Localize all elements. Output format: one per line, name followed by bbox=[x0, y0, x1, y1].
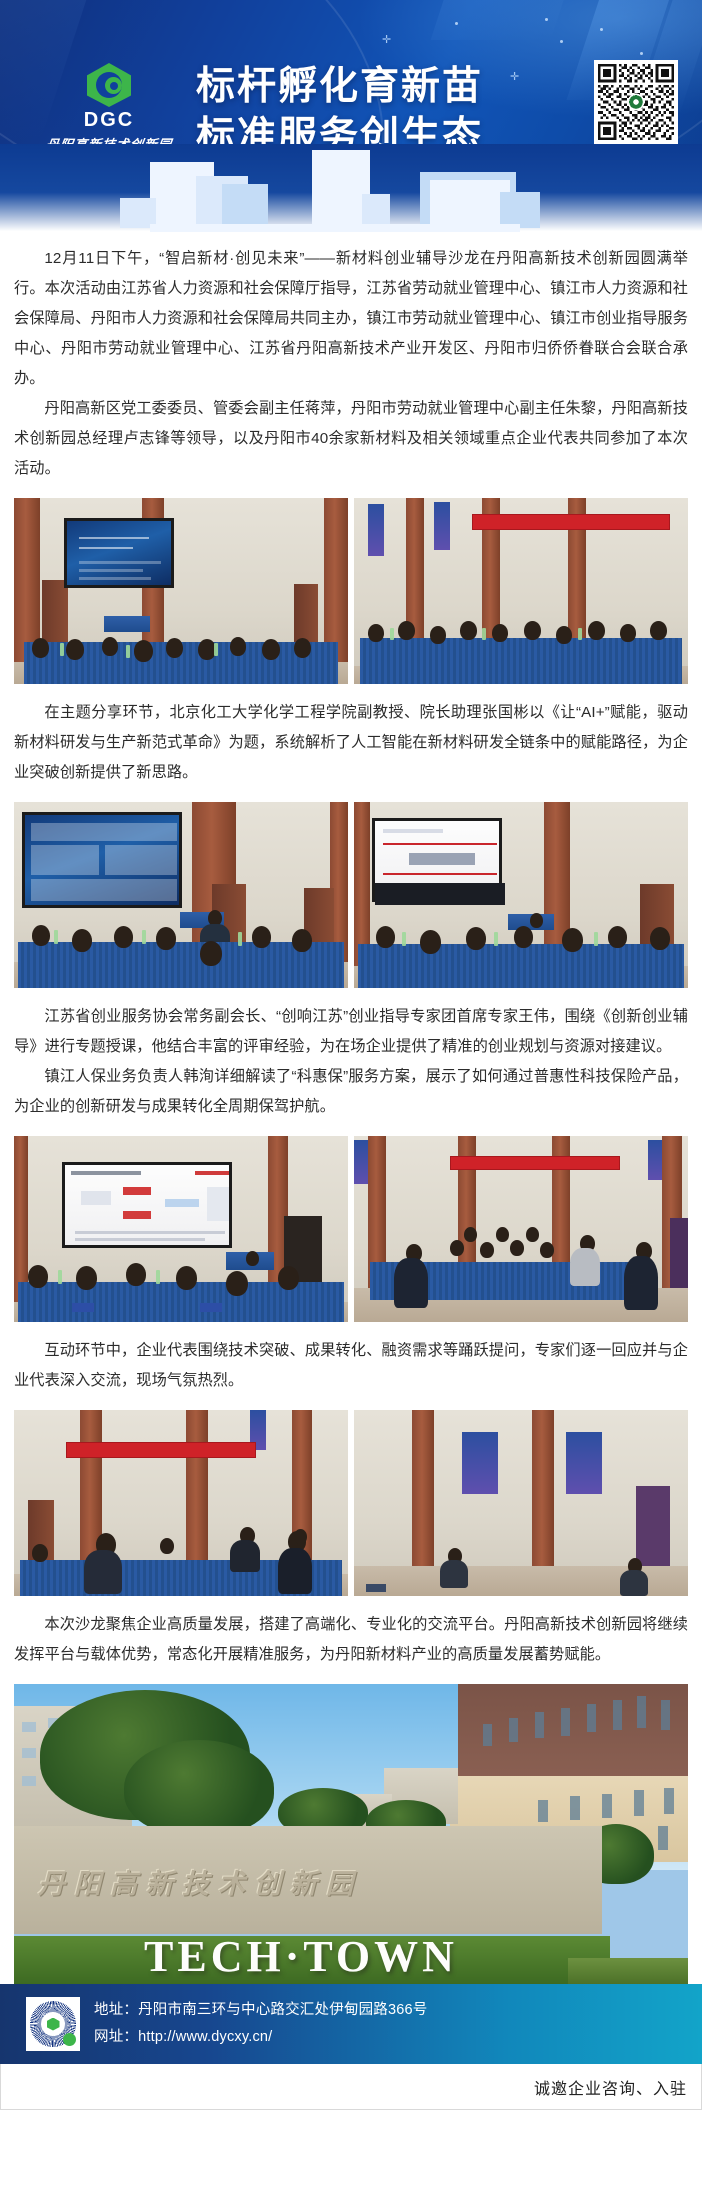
photo-insurance-presentation[interactable] bbox=[14, 1136, 348, 1322]
photo-row-qa bbox=[14, 1406, 688, 1598]
sparkle-icon: ✛ bbox=[510, 72, 519, 83]
website-value[interactable]: http://www.dycxy.cn/ bbox=[138, 2029, 272, 2045]
photo-row-opening bbox=[14, 494, 688, 686]
star-dot-icon bbox=[600, 28, 603, 31]
paragraph: 互动环节中，企业代表围绕技术突破、成果转化、融资需求等踊跃提问，专家们逐一回应并… bbox=[14, 1336, 688, 1396]
banner-skyline-illustration bbox=[0, 144, 702, 232]
article-page: ✛ ✛ DGC 丹阳高新技术创新园 标杆孵化育新苗 标准服务创生态 bbox=[0, 0, 702, 2202]
paragraph: 在主题分享环节，北京化工大学化学工程学院副教授、院长助理张国彬以《让“AI+”赋… bbox=[14, 698, 688, 788]
photo-speaker-entrepreneur-lecture[interactable] bbox=[354, 802, 688, 988]
footer-contact-text: 地址：丹阳市南三环与中心路交汇处伊甸园路366号 网址：http://www.d… bbox=[94, 1997, 428, 2051]
paragraph: 本次沙龙聚焦企业高质量发展，搭建了高端化、专业化的交流平台。丹阳高新技术创新园将… bbox=[14, 1610, 688, 1670]
paragraph: 丹阳高新区党工委委员、管委会副主任蒋萍，丹阳市劳动就业管理中心副主任朱黎，丹阳高… bbox=[14, 394, 688, 484]
photo-row-insurance bbox=[14, 1132, 688, 1324]
website-label: 网址： bbox=[94, 2029, 138, 2045]
banner-shard-decoration bbox=[431, 0, 574, 40]
dgc-diamond-icon bbox=[87, 63, 131, 107]
wall-carved-text: 丹阳高新技术创新园 bbox=[38, 1862, 362, 1901]
banner-qr-code[interactable] bbox=[594, 60, 678, 144]
paragraph-block-intro: 12月11日下午，“智启新材·创见未来”——新材料创业辅导沙龙在丹阳高新技术创新… bbox=[14, 232, 688, 494]
photo-room-wide-view[interactable] bbox=[354, 1410, 688, 1596]
footer-website-line: 网址：http://www.dycxy.cn/ bbox=[94, 2024, 428, 2051]
paragraph: 12月11日下午，“智启新材·创见未来”——新材料创业辅导沙龙在丹阳高新技术创新… bbox=[14, 244, 688, 394]
photo-interaction-standing-qa[interactable] bbox=[354, 1136, 688, 1322]
wechat-qr-logo-icon[interactable] bbox=[26, 1997, 80, 2051]
photo-speaker-ai-lecture[interactable] bbox=[14, 802, 348, 988]
article-content: 12月11日下午，“智启新材·创见未来”——新材料创业辅导沙龙在丹阳高新技术创新… bbox=[0, 232, 702, 1984]
star-dot-icon bbox=[640, 52, 643, 55]
star-dot-icon bbox=[560, 40, 563, 43]
paragraph-block-interaction: 互动环节中，企业代表围绕技术突破、成果转化、融资需求等踊跃提问，专家们逐一回应并… bbox=[14, 1324, 688, 1406]
tech-town-signage: TECH·TOWN bbox=[144, 1931, 458, 1982]
star-dot-icon bbox=[545, 18, 548, 21]
photo-venue-screen-opening[interactable] bbox=[14, 498, 348, 684]
logo-abbr: DGC bbox=[34, 109, 184, 131]
paragraph: 镇江人保业务负责人韩洵详细解读了“科惠保”服务方案，展示了如何通过普惠性科技保险… bbox=[14, 1062, 688, 1122]
paragraph: 江苏省创业服务协会常务副会长、“创响江苏”创业指导专家团首席专家王伟，围绕《创新… bbox=[14, 1002, 688, 1062]
header-banner: ✛ ✛ DGC 丹阳高新技术创新园 标杆孵化育新苗 标准服务创生态 bbox=[0, 0, 702, 232]
photo-row-lectures bbox=[14, 798, 688, 990]
banner-title-line1: 标杆孵化育新苗 bbox=[196, 62, 483, 112]
footer-cta-text[interactable]: 诚邀企业咨询、入驻 bbox=[534, 2075, 687, 2099]
footer-cta-bar: 诚邀企业咨询、入驻 bbox=[0, 2064, 702, 2110]
photo-tech-town-gate[interactable]: 丹阳高新技术创新园 TECH·TOWN bbox=[14, 1684, 688, 1984]
address-value: 丹阳市南三环与中心路交汇处伊甸园路366号 bbox=[138, 2002, 427, 2018]
paragraph-block-conclusion: 本次沙龙聚焦企业高质量发展，搭建了高端化、专业化的交流平台。丹阳高新技术创新园将… bbox=[14, 1598, 688, 1680]
footer-contact-bar: 地址：丹阳市南三环与中心路交汇处伊甸园路366号 网址：http://www.d… bbox=[0, 1984, 702, 2064]
footer-address-line: 地址：丹阳市南三环与中心路交汇处伊甸园路366号 bbox=[94, 1997, 428, 2024]
star-dot-icon bbox=[455, 22, 458, 25]
paragraph-block-ai-lecture: 在主题分享环节，北京化工大学化学工程学院副教授、院长助理张国彬以《让“AI+”赋… bbox=[14, 686, 688, 798]
park-logo: DGC 丹阳高新技术创新园 bbox=[34, 63, 184, 153]
photo-qa-expert-response[interactable] bbox=[14, 1410, 348, 1596]
paragraph-block-entrepreneur-insurance: 江苏省创业服务协会常务副会长、“创响江苏”创业指导专家团首席专家王伟，围绕《创新… bbox=[14, 990, 688, 1132]
address-label: 地址： bbox=[94, 2002, 138, 2018]
photo-audience-red-banner[interactable] bbox=[354, 498, 688, 684]
sparkle-icon: ✛ bbox=[382, 35, 391, 46]
